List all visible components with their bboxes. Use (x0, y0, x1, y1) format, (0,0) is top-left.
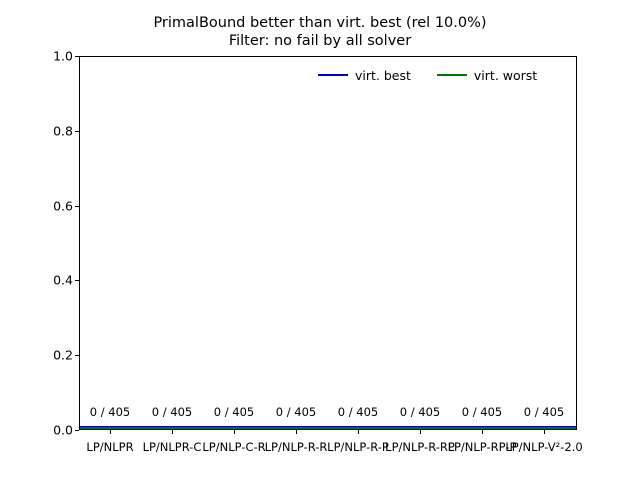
legend-swatch-icon (318, 74, 348, 76)
chart-legend: virt. best virt. worst (318, 62, 545, 88)
y-tick-label-2: 0.4 (53, 273, 73, 288)
x-tick-label-1: LP/NLPR-C (143, 440, 202, 454)
point-annotation: 0 / 405 (524, 405, 564, 419)
y-tick-label-4: 0.8 (53, 123, 73, 138)
y-tick-label-3: 0.6 (53, 198, 73, 213)
x-tick-mark-3 (296, 430, 297, 434)
x-tick-mark-7 (544, 430, 545, 434)
point-annotation: 0 / 405 (400, 405, 440, 419)
series-line-virt-worst (80, 427, 576, 429)
x-tick-mark-6 (482, 430, 483, 434)
x-tick-label-5: LP/NLP-R-RP (385, 440, 455, 454)
chart-title-line-1: PrimalBound better than virt. best (rel … (0, 14, 640, 32)
x-tick-label-0: LP/NLPR (86, 440, 133, 454)
legend-label: virt. best (355, 68, 411, 83)
x-tick-label-3: LP/NLP-R-R (265, 440, 328, 454)
chart-title-line-2: Filter: no fail by all solver (0, 32, 640, 50)
legend-entry-virt-worst[interactable]: virt. worst (437, 68, 537, 83)
x-tick-mark-4 (358, 430, 359, 434)
y-tick-label-5: 1.0 (53, 49, 73, 64)
x-tick-label-4: LP/NLP-R-P (327, 440, 389, 454)
y-tick-label-0: 0.0 (53, 423, 73, 438)
x-tick-mark-1 (172, 430, 173, 434)
point-annotation: 0 / 405 (276, 405, 316, 419)
figure-canvas: PrimalBound better than virt. best (rel … (0, 0, 640, 480)
point-annotation: 0 / 405 (338, 405, 378, 419)
x-tick-mark-0 (110, 430, 111, 434)
x-tick-label-7: LP/NLP-V²-2.0 (505, 440, 582, 454)
chart-title: PrimalBound better than virt. best (rel … (0, 14, 640, 50)
y-tick-mark-0 (75, 430, 79, 431)
plot-area (79, 56, 577, 430)
x-tick-mark-2 (234, 430, 235, 434)
point-annotation: 0 / 405 (152, 405, 192, 419)
legend-label: virt. worst (474, 68, 537, 83)
point-annotation: 0 / 405 (214, 405, 254, 419)
x-tick-mark-5 (420, 430, 421, 434)
x-tick-label-2: LP/NLP-C-R (202, 440, 265, 454)
point-annotation: 0 / 405 (90, 405, 130, 419)
legend-swatch-icon (437, 74, 467, 76)
y-tick-label-1: 0.2 (53, 348, 73, 363)
legend-entry-virt-best[interactable]: virt. best (318, 68, 411, 83)
point-annotation: 0 / 405 (462, 405, 502, 419)
